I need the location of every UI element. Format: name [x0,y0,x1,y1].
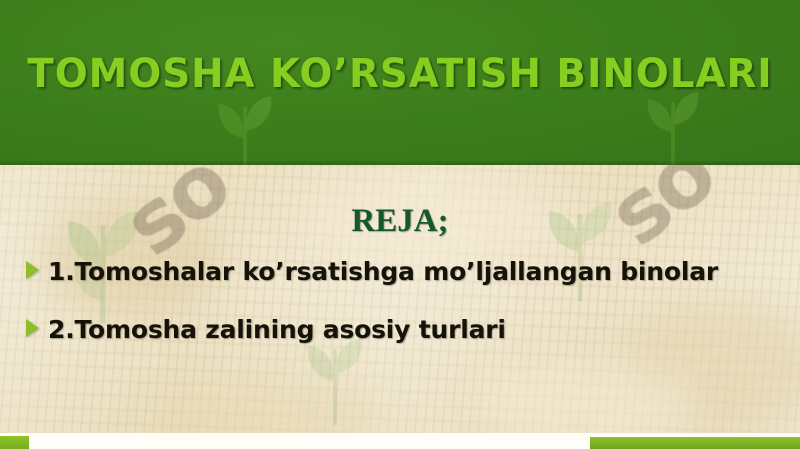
presentation-slide: so so TOMOSHA KO’RSATISH BINOLARI REJA; … [0,0,800,449]
header-leaf-icon [210,92,280,165]
bullet-item-2-text: 2.Tomosha zalining asosiy turlari [48,315,506,344]
triangle-right-icon [26,319,39,337]
bullet-list: 1.Tomoshalar ko’rsatishga mo’ljallangan … [0,251,800,363]
bullet-item-1: 1.Tomoshalar ko’rsatishga mo’ljallangan … [0,251,800,293]
triangle-right-icon [26,261,39,279]
slide-title: TOMOSHA KO’RSATISH BINOLARI [12,52,788,96]
bullet-item-2: 2.Tomosha zalining asosiy turlari [0,309,800,351]
slide-footer-band [0,433,800,449]
header-leaf-icon [640,88,706,165]
body-heading: REJA; [0,203,800,239]
footer-accent-left [0,436,29,449]
bullet-item-1-text: 1.Tomoshalar ko’rsatishga mo’ljallangan … [48,257,718,286]
footer-accent-right [590,437,800,449]
slide-body: REJA; 1.Tomoshalar ko’rsatishga mo’ljall… [0,165,800,433]
slide-header-band: TOMOSHA KO’RSATISH BINOLARI [0,0,800,165]
